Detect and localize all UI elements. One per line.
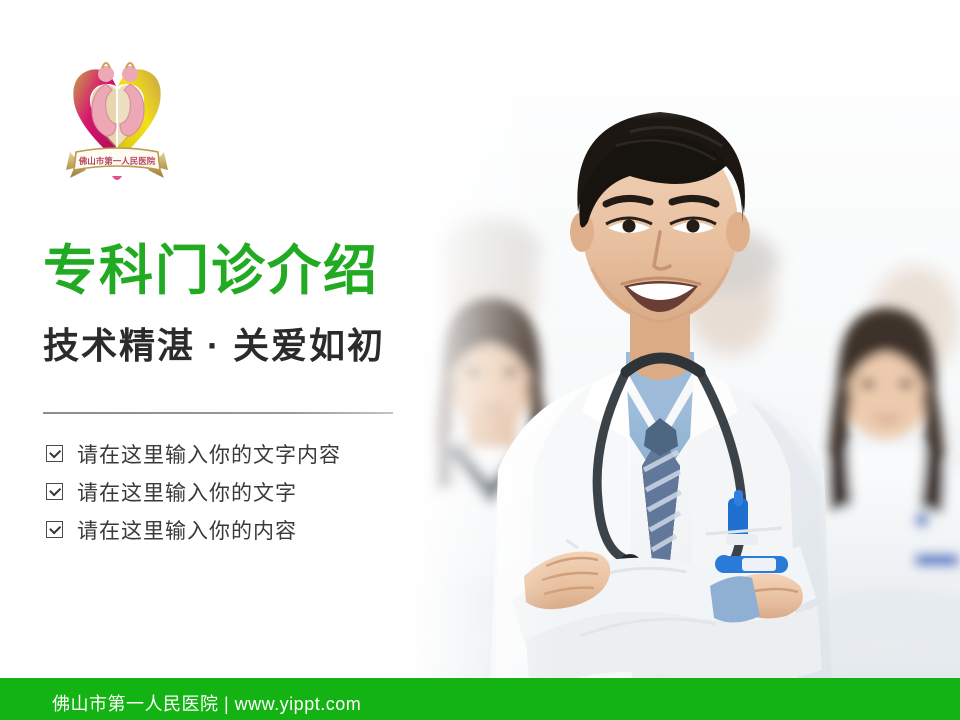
slide-canvas: 佛山市第一人民医院 专科门诊介绍 技术精湛 · 关爱如初 请在这里输入你的文字内… xyxy=(0,0,960,720)
logo-banner-text: 佛山市第一人民医院 xyxy=(78,156,156,166)
list-item[interactable]: 请在这里输入你的内容 xyxy=(46,512,426,547)
checkbox-checked-icon xyxy=(46,521,63,538)
checkbox-checked-icon xyxy=(46,445,63,462)
bullet-list: 请在这里输入你的文字内容 请在这里输入你的文字 请在这里输入你的内容 xyxy=(46,436,426,550)
list-item-label: 请在这里输入你的文字内容 xyxy=(77,439,341,469)
page-title: 专科门诊介绍 xyxy=(43,243,379,300)
list-item[interactable]: 请在这里输入你的文字 xyxy=(46,474,426,509)
page-subtitle: 技术精湛 · 关爱如初 xyxy=(43,326,385,366)
list-item-label: 请在这里输入你的内容 xyxy=(77,515,297,545)
doctor-team-photo xyxy=(330,0,960,690)
checkbox-checked-icon xyxy=(46,483,63,500)
foshan-first-peoples-hospital-logo: 佛山市第一人民医院 xyxy=(52,52,182,187)
list-item-label: 请在这里输入你的文字 xyxy=(77,477,297,507)
footer-credit: 佛山市第一人民医院 | www.yippt.com xyxy=(52,690,361,716)
title-divider xyxy=(43,412,393,414)
list-item[interactable]: 请在这里输入你的文字内容 xyxy=(46,436,426,471)
